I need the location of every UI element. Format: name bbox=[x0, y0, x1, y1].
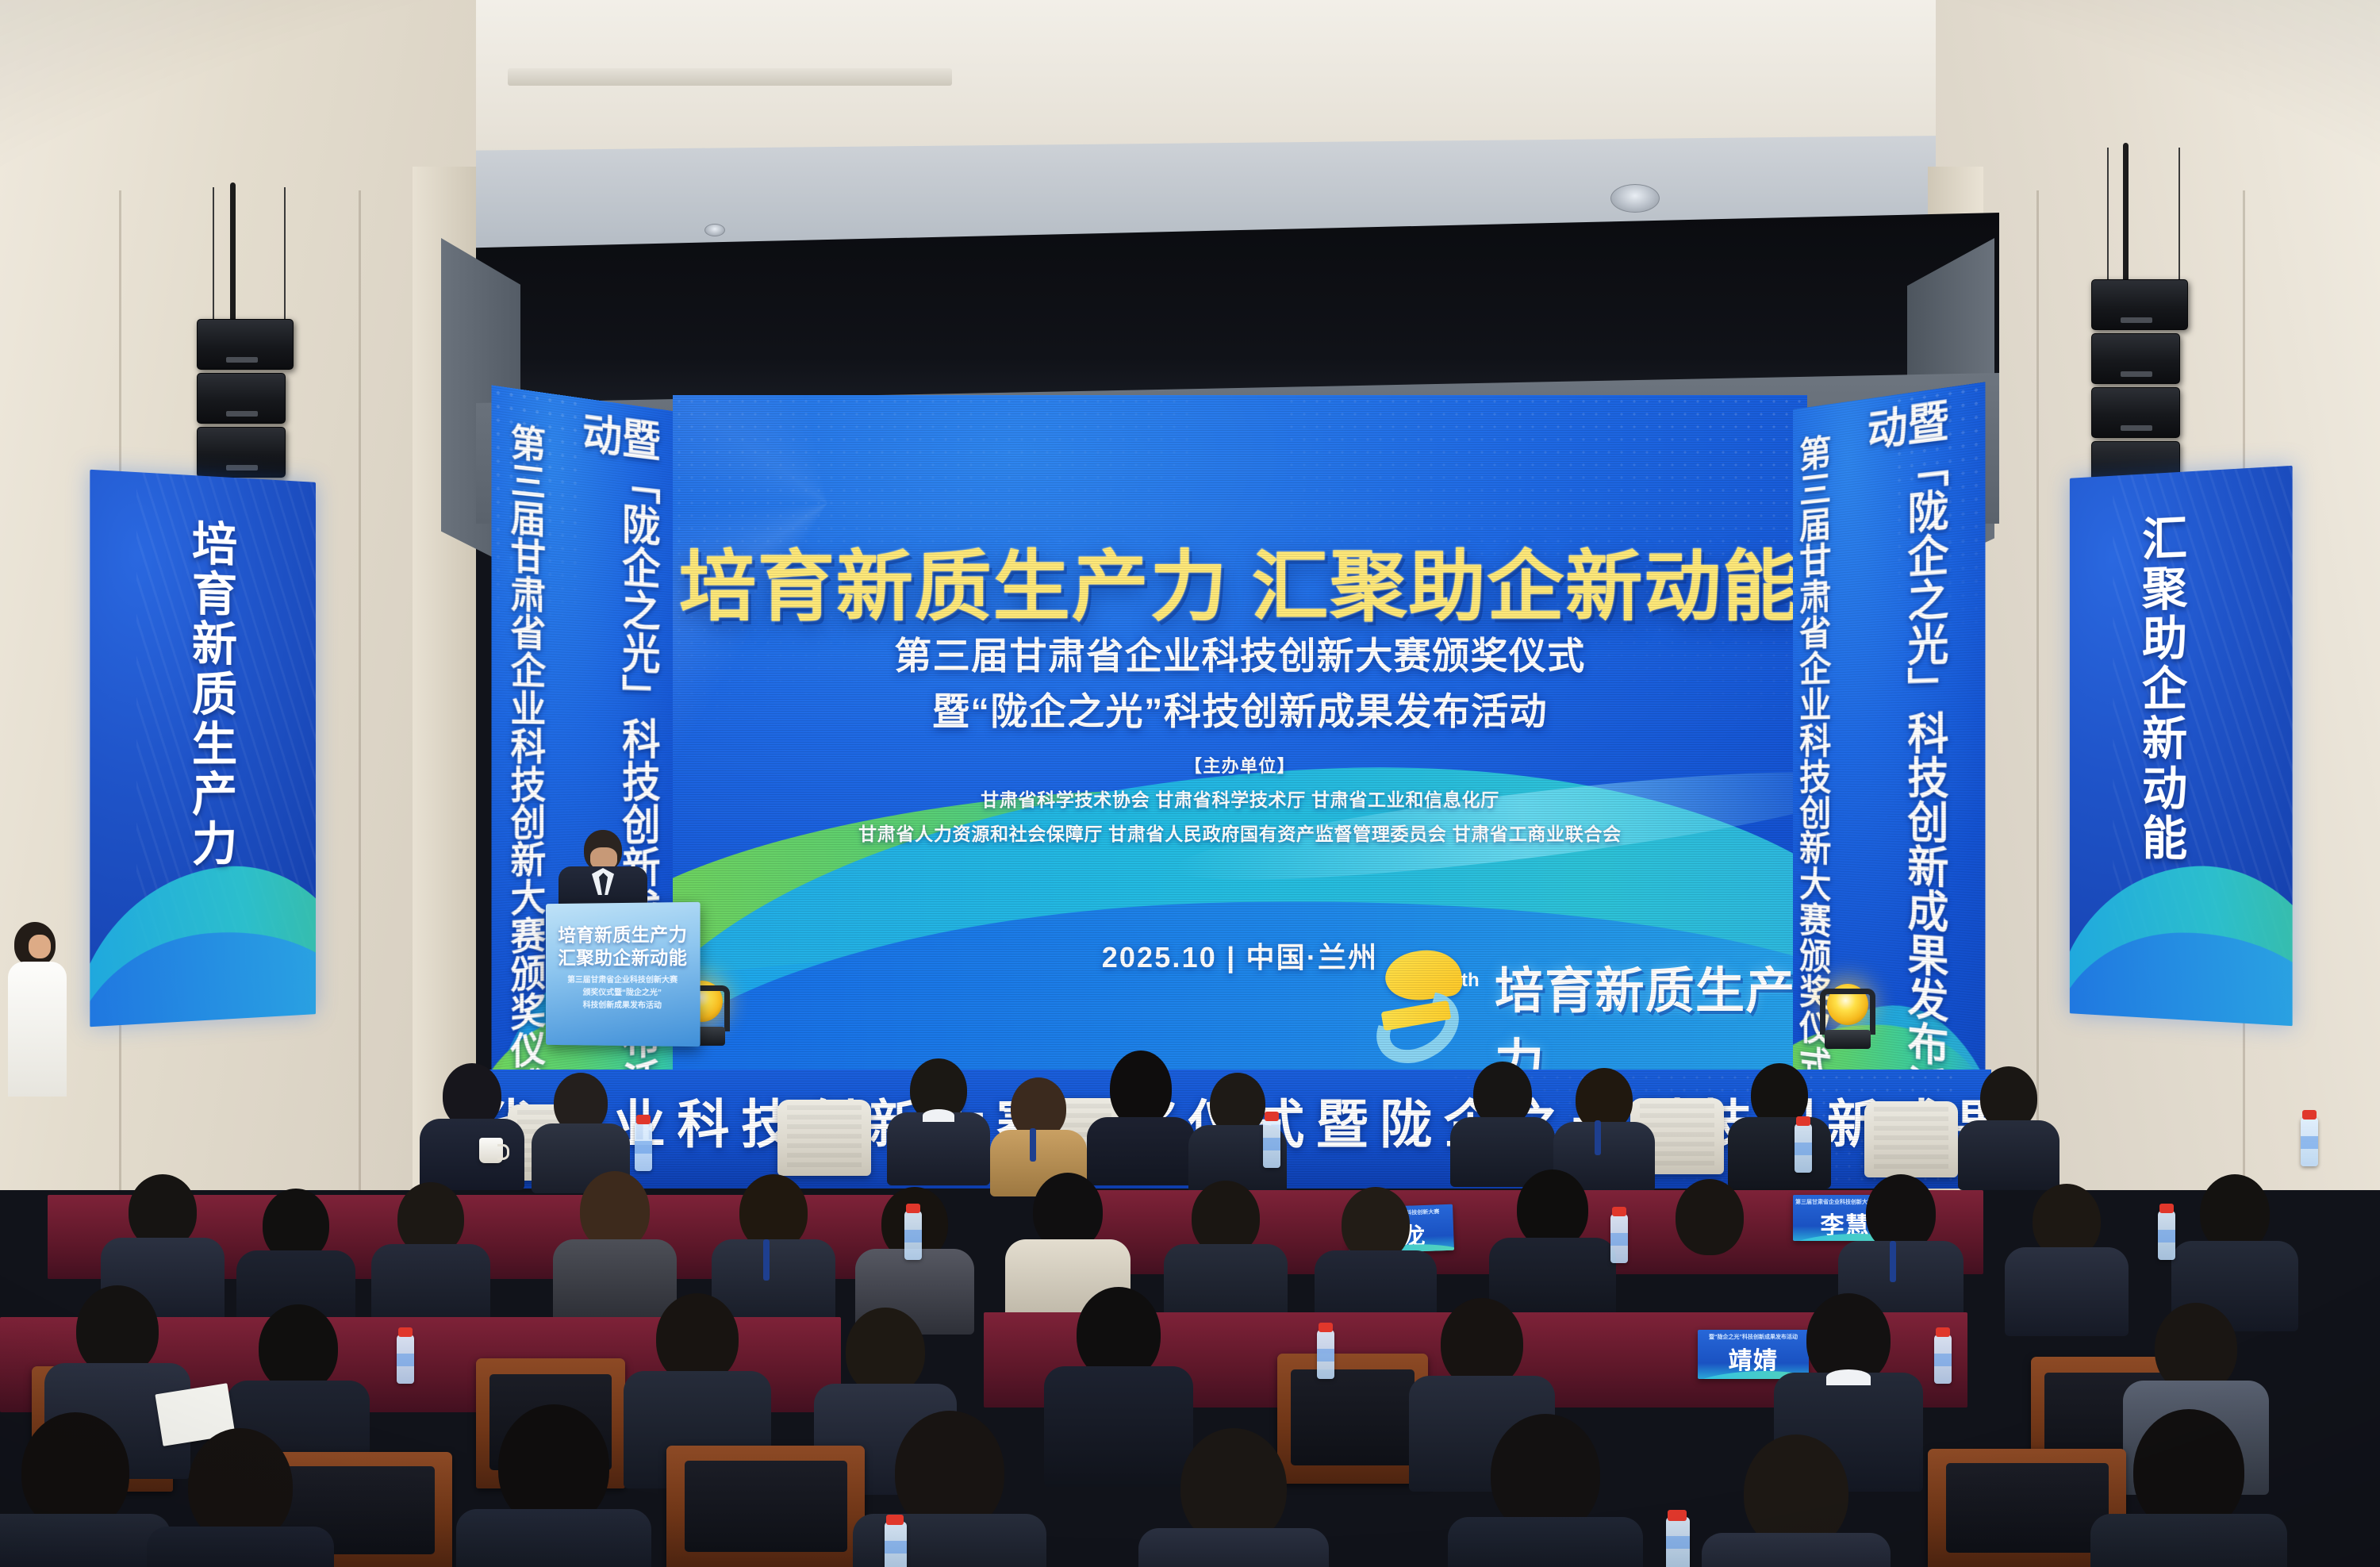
side-banner-left-text: 培育新质生产力 bbox=[184, 518, 237, 870]
podium: 培育新质生产力 汇聚助企新动能 第三届甘肃省企业科技创新大赛 颁奖仪式暨“陇企之… bbox=[546, 902, 701, 1047]
organizer-block: 【主办单位】 甘肃省科学技术协会 甘肃省科学技术厅 甘肃省工业和信息化厅 甘肃省… bbox=[673, 752, 1807, 846]
side-banner-left: 培育新质生产力 bbox=[90, 470, 316, 1027]
moving-head-light-right bbox=[1817, 977, 1879, 1049]
audience-member bbox=[460, 1404, 647, 1567]
speaker-box bbox=[2091, 333, 2180, 384]
water-bottle bbox=[1610, 1214, 1628, 1263]
led-wall-center-screen: 培育新质生产力 汇聚助企新动能 第三届甘肃省企业科技创新大赛颁奖仪式 暨“陇企之… bbox=[673, 395, 1807, 1119]
ceiling-light-strip bbox=[508, 68, 952, 86]
wall-seam bbox=[359, 190, 361, 1190]
audience-member bbox=[1960, 1066, 2058, 1184]
podium-line-2: 汇聚助企新动能 bbox=[546, 946, 701, 969]
seat-back bbox=[777, 1100, 871, 1176]
speaker-box bbox=[197, 373, 286, 424]
water-bottle bbox=[1795, 1123, 1812, 1173]
water-bottle bbox=[397, 1335, 414, 1384]
water-bottle bbox=[904, 1211, 922, 1260]
subtitle-line-2: 暨“陇企之光”科技创新成果发布活动 bbox=[673, 681, 1807, 735]
podium-small-3: 科技创新成果发布活动 bbox=[546, 999, 701, 1012]
audience-member bbox=[889, 1058, 988, 1182]
organizer-line-1: 甘肃省科学技术协会 甘肃省科学技术厅 甘肃省工业和信息化厅 bbox=[673, 785, 1807, 812]
wall-seam bbox=[2036, 190, 2039, 1190]
audience-member bbox=[2094, 1409, 2283, 1567]
audience-member bbox=[1555, 1068, 1653, 1185]
water-bottle bbox=[1934, 1335, 1952, 1384]
tea-cup bbox=[479, 1138, 503, 1163]
audience-member bbox=[0, 1412, 167, 1567]
presenter-at-podium bbox=[555, 830, 651, 911]
audience-member bbox=[2007, 1184, 2126, 1335]
audience-member bbox=[1088, 1050, 1193, 1182]
seat-back bbox=[1864, 1101, 1958, 1177]
page-title: 培育新质生产力 汇聚助企新动能 bbox=[673, 524, 1807, 636]
water-bottle bbox=[1666, 1517, 1690, 1567]
podium-small-2: 颁奖仪式暨“陇企之光” bbox=[546, 986, 701, 999]
speaker-box bbox=[2091, 279, 2188, 330]
edition-number-icon: th bbox=[1368, 946, 1487, 1065]
audience-member bbox=[1452, 1414, 1639, 1567]
water-bottle bbox=[2158, 1211, 2175, 1260]
audience-member bbox=[1706, 1434, 1887, 1567]
chair bbox=[666, 1446, 865, 1567]
side-banner-right: 汇聚助企新动能 bbox=[2070, 466, 2293, 1026]
water-bottle bbox=[635, 1122, 652, 1171]
speaker-box bbox=[2091, 387, 2180, 438]
audience-member bbox=[1729, 1063, 1829, 1182]
ceiling-downlight-icon bbox=[1610, 184, 1660, 213]
organizer-label: 【主办单位】 bbox=[673, 752, 1807, 778]
edition-suffix: th bbox=[1461, 970, 1480, 992]
audience-member bbox=[420, 1063, 524, 1182]
audience-member bbox=[1142, 1428, 1325, 1567]
speaker-box bbox=[197, 319, 294, 370]
conference-hall-scene: 培育新质生产力 汇聚助企新动能 第三届甘肃省企业科技创新大赛颁奖仪式 暨「陇企之… bbox=[0, 0, 2380, 1567]
audience-area: 第三届甘肃省企业科技创新大赛颁奖仪式 李慧 第三届甘肃省企业科技创新大赛 江龙 bbox=[0, 1055, 2380, 1567]
audience-member bbox=[1650, 1179, 1769, 1331]
podium-small-1: 第三届甘肃省企业科技创新大赛 bbox=[546, 974, 701, 985]
audience-member bbox=[1452, 1062, 1553, 1182]
water-bottle bbox=[885, 1522, 907, 1567]
audience-member bbox=[992, 1077, 1085, 1189]
podium-line-1: 培育新质生产力 bbox=[546, 923, 701, 947]
wing-left-text-back: 第三届甘肃省企业科技创新大赛颁奖仪式 bbox=[506, 421, 542, 1109]
audience-member bbox=[373, 1182, 489, 1330]
side-banner-right-text: 汇聚助企新动能 bbox=[2134, 513, 2186, 865]
speaker-box bbox=[197, 427, 286, 478]
water-bottle bbox=[1263, 1119, 1280, 1168]
water-bottle bbox=[2301, 1117, 2318, 1166]
organizer-line-2: 甘肃省人力资源和社会保障厅 甘肃省人民政府国有资产监督管理委员会 甘肃省工商业联… bbox=[673, 819, 1807, 846]
audience-member bbox=[151, 1428, 330, 1567]
subtitle-line-1: 第三届甘肃省企业科技创新大赛颁奖仪式 bbox=[673, 625, 1807, 680]
event-logo: th 培育新质生产力 汇聚助企新动能 bbox=[1368, 951, 1807, 1070]
ceiling-sensor-icon bbox=[704, 224, 725, 236]
podium-sign: 培育新质生产力 汇聚助企新动能 第三届甘肃省企业科技创新大赛 颁奖仪式暨“陇企之… bbox=[546, 923, 701, 1012]
water-bottle bbox=[1317, 1330, 1334, 1379]
